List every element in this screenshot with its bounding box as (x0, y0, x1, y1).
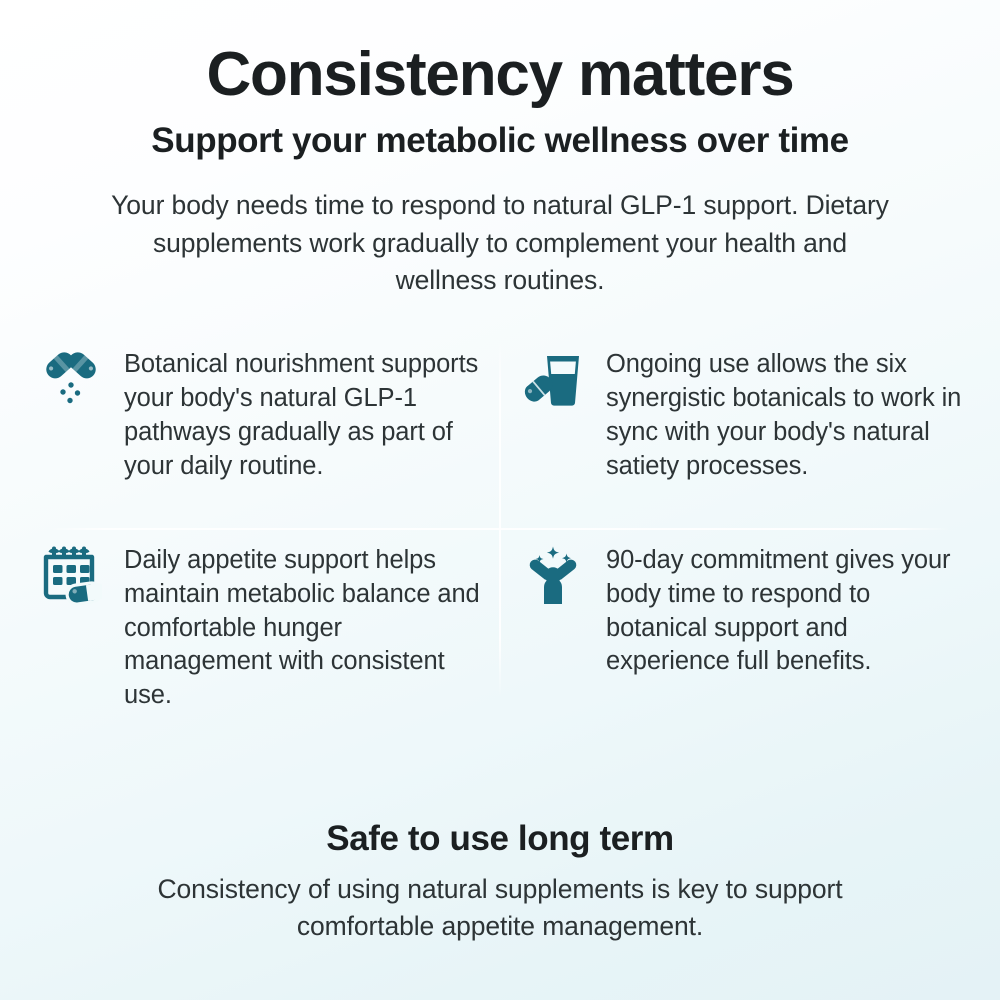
benefit-card-2-text: Ongoing use allows the six synergistic b… (606, 346, 962, 484)
calendar-pill-icon (40, 544, 102, 606)
footer-section: Safe to use long term Consistency of usi… (34, 819, 966, 971)
header-section: Consistency matters Support your metabol… (34, 42, 966, 300)
benefit-card-2: Ongoing use allows the six synergistic b… (500, 336, 966, 512)
footer-text: Consistency of using natural supplements… (100, 871, 900, 946)
page-subtitle: Support your metabolic wellness over tim… (34, 121, 966, 161)
infographic-poster: Consistency matters Support your metabol… (0, 0, 1000, 1000)
benefit-card-3-text: Daily appetite support helps maintain me… (124, 542, 480, 714)
celebrating-person-sparkles-icon (522, 544, 584, 606)
intro-paragraph: Your body needs time to respond to natur… (105, 187, 895, 300)
open-capsules-granules-icon (40, 348, 102, 410)
benefit-card-4-text: 90-day commitment gives your body time t… (606, 542, 962, 680)
footer-title: Safe to use long term (34, 819, 966, 859)
benefit-card-4: 90-day commitment gives your body time t… (500, 512, 966, 720)
benefit-card-grid: Botanical nourishment supports your body… (34, 336, 966, 719)
benefit-card-1-text: Botanical nourishment supports your body… (124, 346, 480, 484)
water-glass-capsule-icon (522, 348, 584, 410)
benefit-card-3: Daily appetite support helps maintain me… (34, 512, 500, 720)
page-title: Consistency matters (34, 42, 966, 109)
benefit-card-1: Botanical nourishment supports your body… (34, 336, 500, 512)
